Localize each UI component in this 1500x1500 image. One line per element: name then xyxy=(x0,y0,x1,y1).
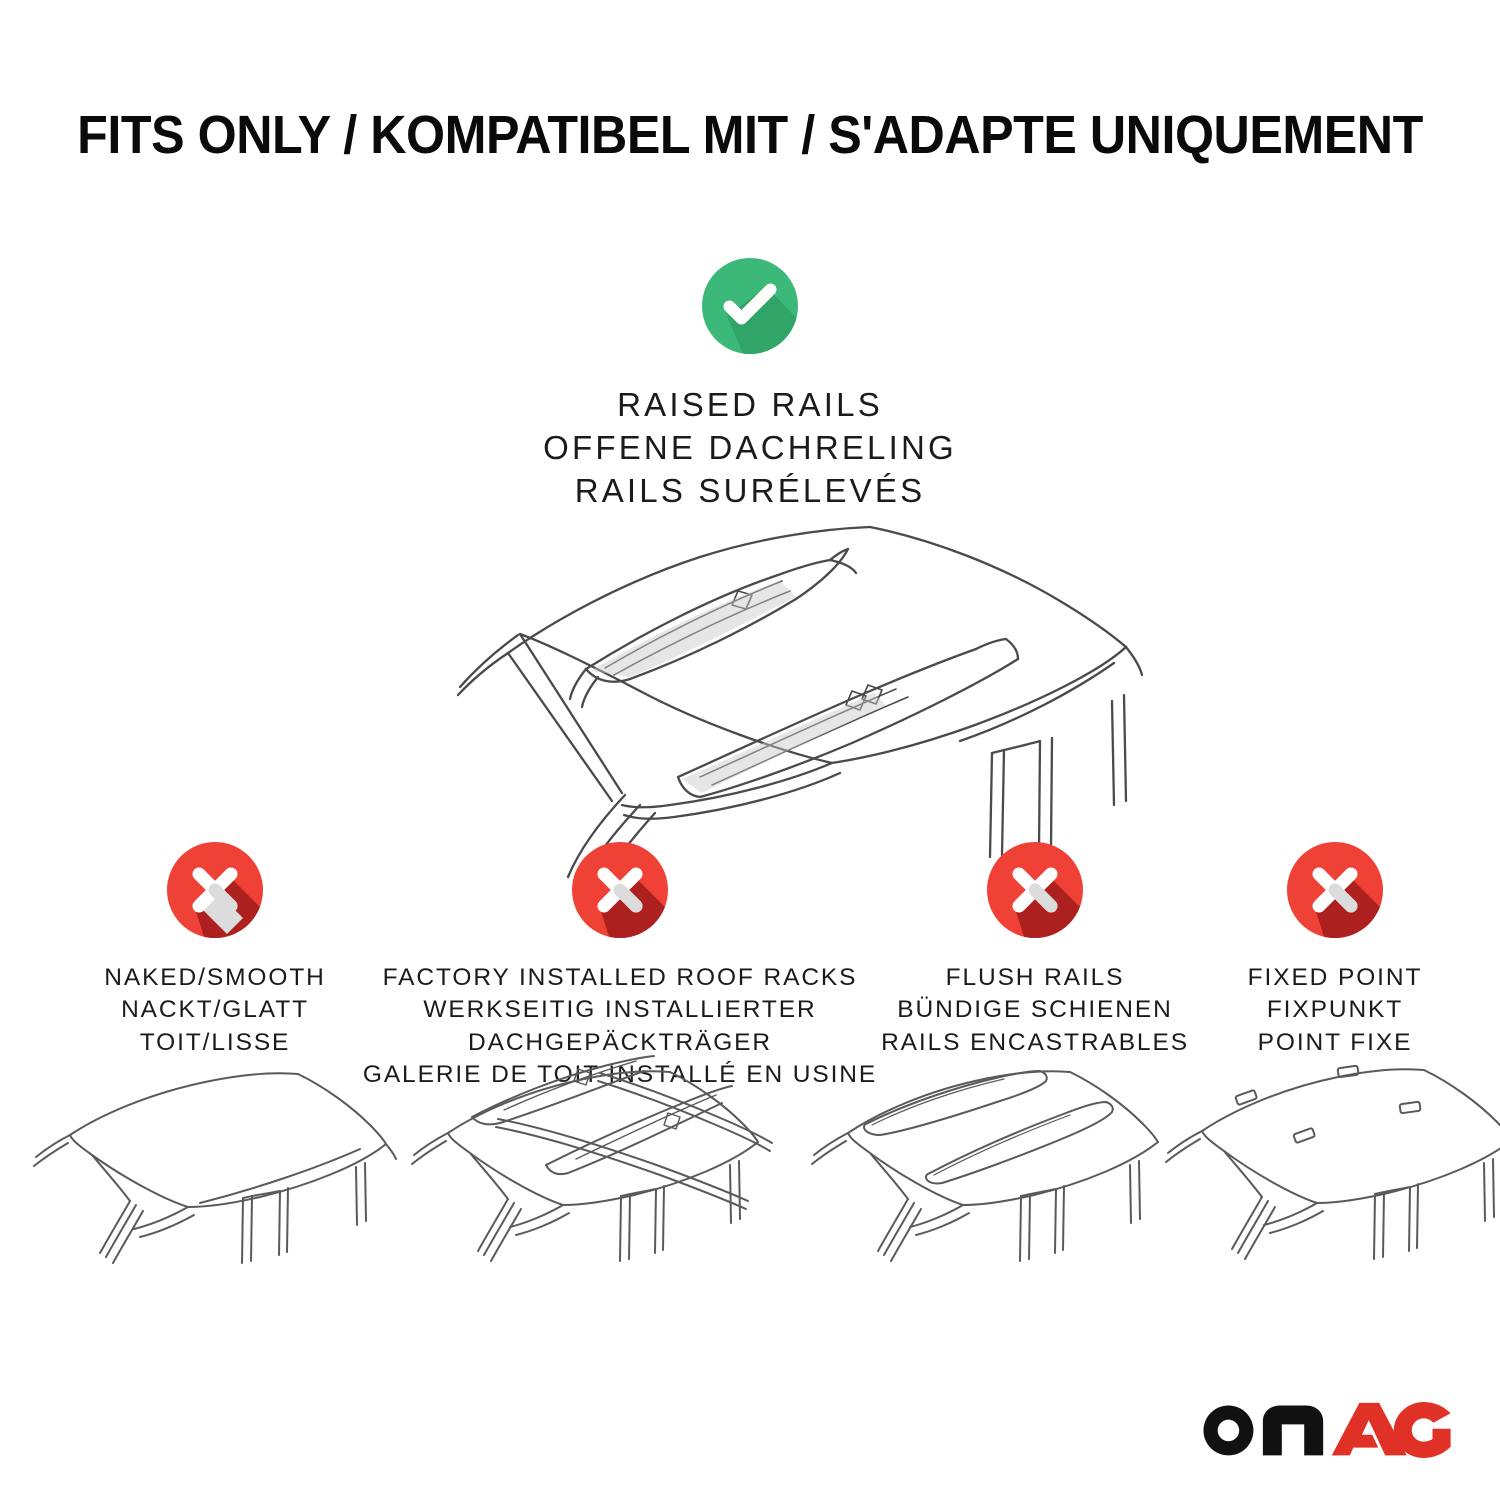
page-title: FITS ONLY / KOMPATIBEL MIT / S'ADAPTE UN… xyxy=(53,104,1448,166)
rejected-label-4-de: FIXPUNKT xyxy=(1248,994,1423,1026)
car-roof-with-raised-rails-illustration xyxy=(400,505,1140,845)
rejected-label-3-de: BÜNDIGE SCHIENEN xyxy=(881,994,1189,1026)
approved-label-en: RAISED RAILS xyxy=(543,384,957,427)
x-circle-icon xyxy=(1285,840,1385,940)
logo-letter-m xyxy=(1263,1405,1323,1455)
rejected-label-4-en: FIXED POINT xyxy=(1248,962,1423,994)
rejected-label-2-en: FACTORY INSTALLED ROOF RACKS xyxy=(363,962,877,994)
brand-logo-omac xyxy=(1194,1396,1452,1458)
approved-section: RAISED RAILS OFFENE DACHRELING RAILS SUR… xyxy=(0,256,1500,513)
approved-label-de: OFFENE DACHRELING xyxy=(543,427,957,470)
check-circle-icon xyxy=(700,256,800,356)
car-roof-factory-roof-racks-illustration xyxy=(400,1055,780,1300)
rejected-label-1-en: NAKED/SMOOTH xyxy=(104,962,326,994)
rejected-labels-1: NAKED/SMOOTH NACKT/GLATT TOIT/LISSE xyxy=(104,962,326,1059)
logo-letter-c xyxy=(1393,1402,1450,1458)
rejected-labels-3: FLUSH RAILS BÜNDIGE SCHIENEN RAILS ENCAS… xyxy=(881,962,1189,1059)
rejected-label-3-en: FLUSH RAILS xyxy=(881,962,1189,994)
x-circle-icon xyxy=(570,840,670,940)
approved-labels: RAISED RAILS OFFENE DACHRELING RAILS SUR… xyxy=(543,384,957,513)
rejected-item-naked-smooth: NAKED/SMOOTH NACKT/GLATT TOIT/LISSE xyxy=(115,840,315,1059)
rejected-item-flush-rails: FLUSH RAILS BÜNDIGE SCHIENEN RAILS ENCAS… xyxy=(860,840,1210,1059)
car-roof-flush-rails-illustration xyxy=(800,1055,1180,1300)
x-circle-icon xyxy=(985,840,1085,940)
rejected-item-factory-roof-racks: FACTORY INSTALLED ROOF RACKS WERKSEITIG … xyxy=(400,840,840,1091)
rejected-label-2-de1: WERKSEITIG INSTALLIERTER xyxy=(363,994,877,1026)
car-roof-fixed-point-illustration xyxy=(1160,1055,1500,1300)
rejected-item-fixed-point: FIXED POINT FIXPUNKT POINT FIXE xyxy=(1215,840,1455,1059)
rejected-labels-4: FIXED POINT FIXPUNKT POINT FIXE xyxy=(1248,962,1423,1059)
x-circle-icon xyxy=(165,840,265,940)
logo-letter-o xyxy=(1203,1405,1253,1455)
rejected-label-1-de: NACKT/GLATT xyxy=(104,994,326,1026)
car-roof-naked-smooth-illustration xyxy=(30,1055,400,1300)
